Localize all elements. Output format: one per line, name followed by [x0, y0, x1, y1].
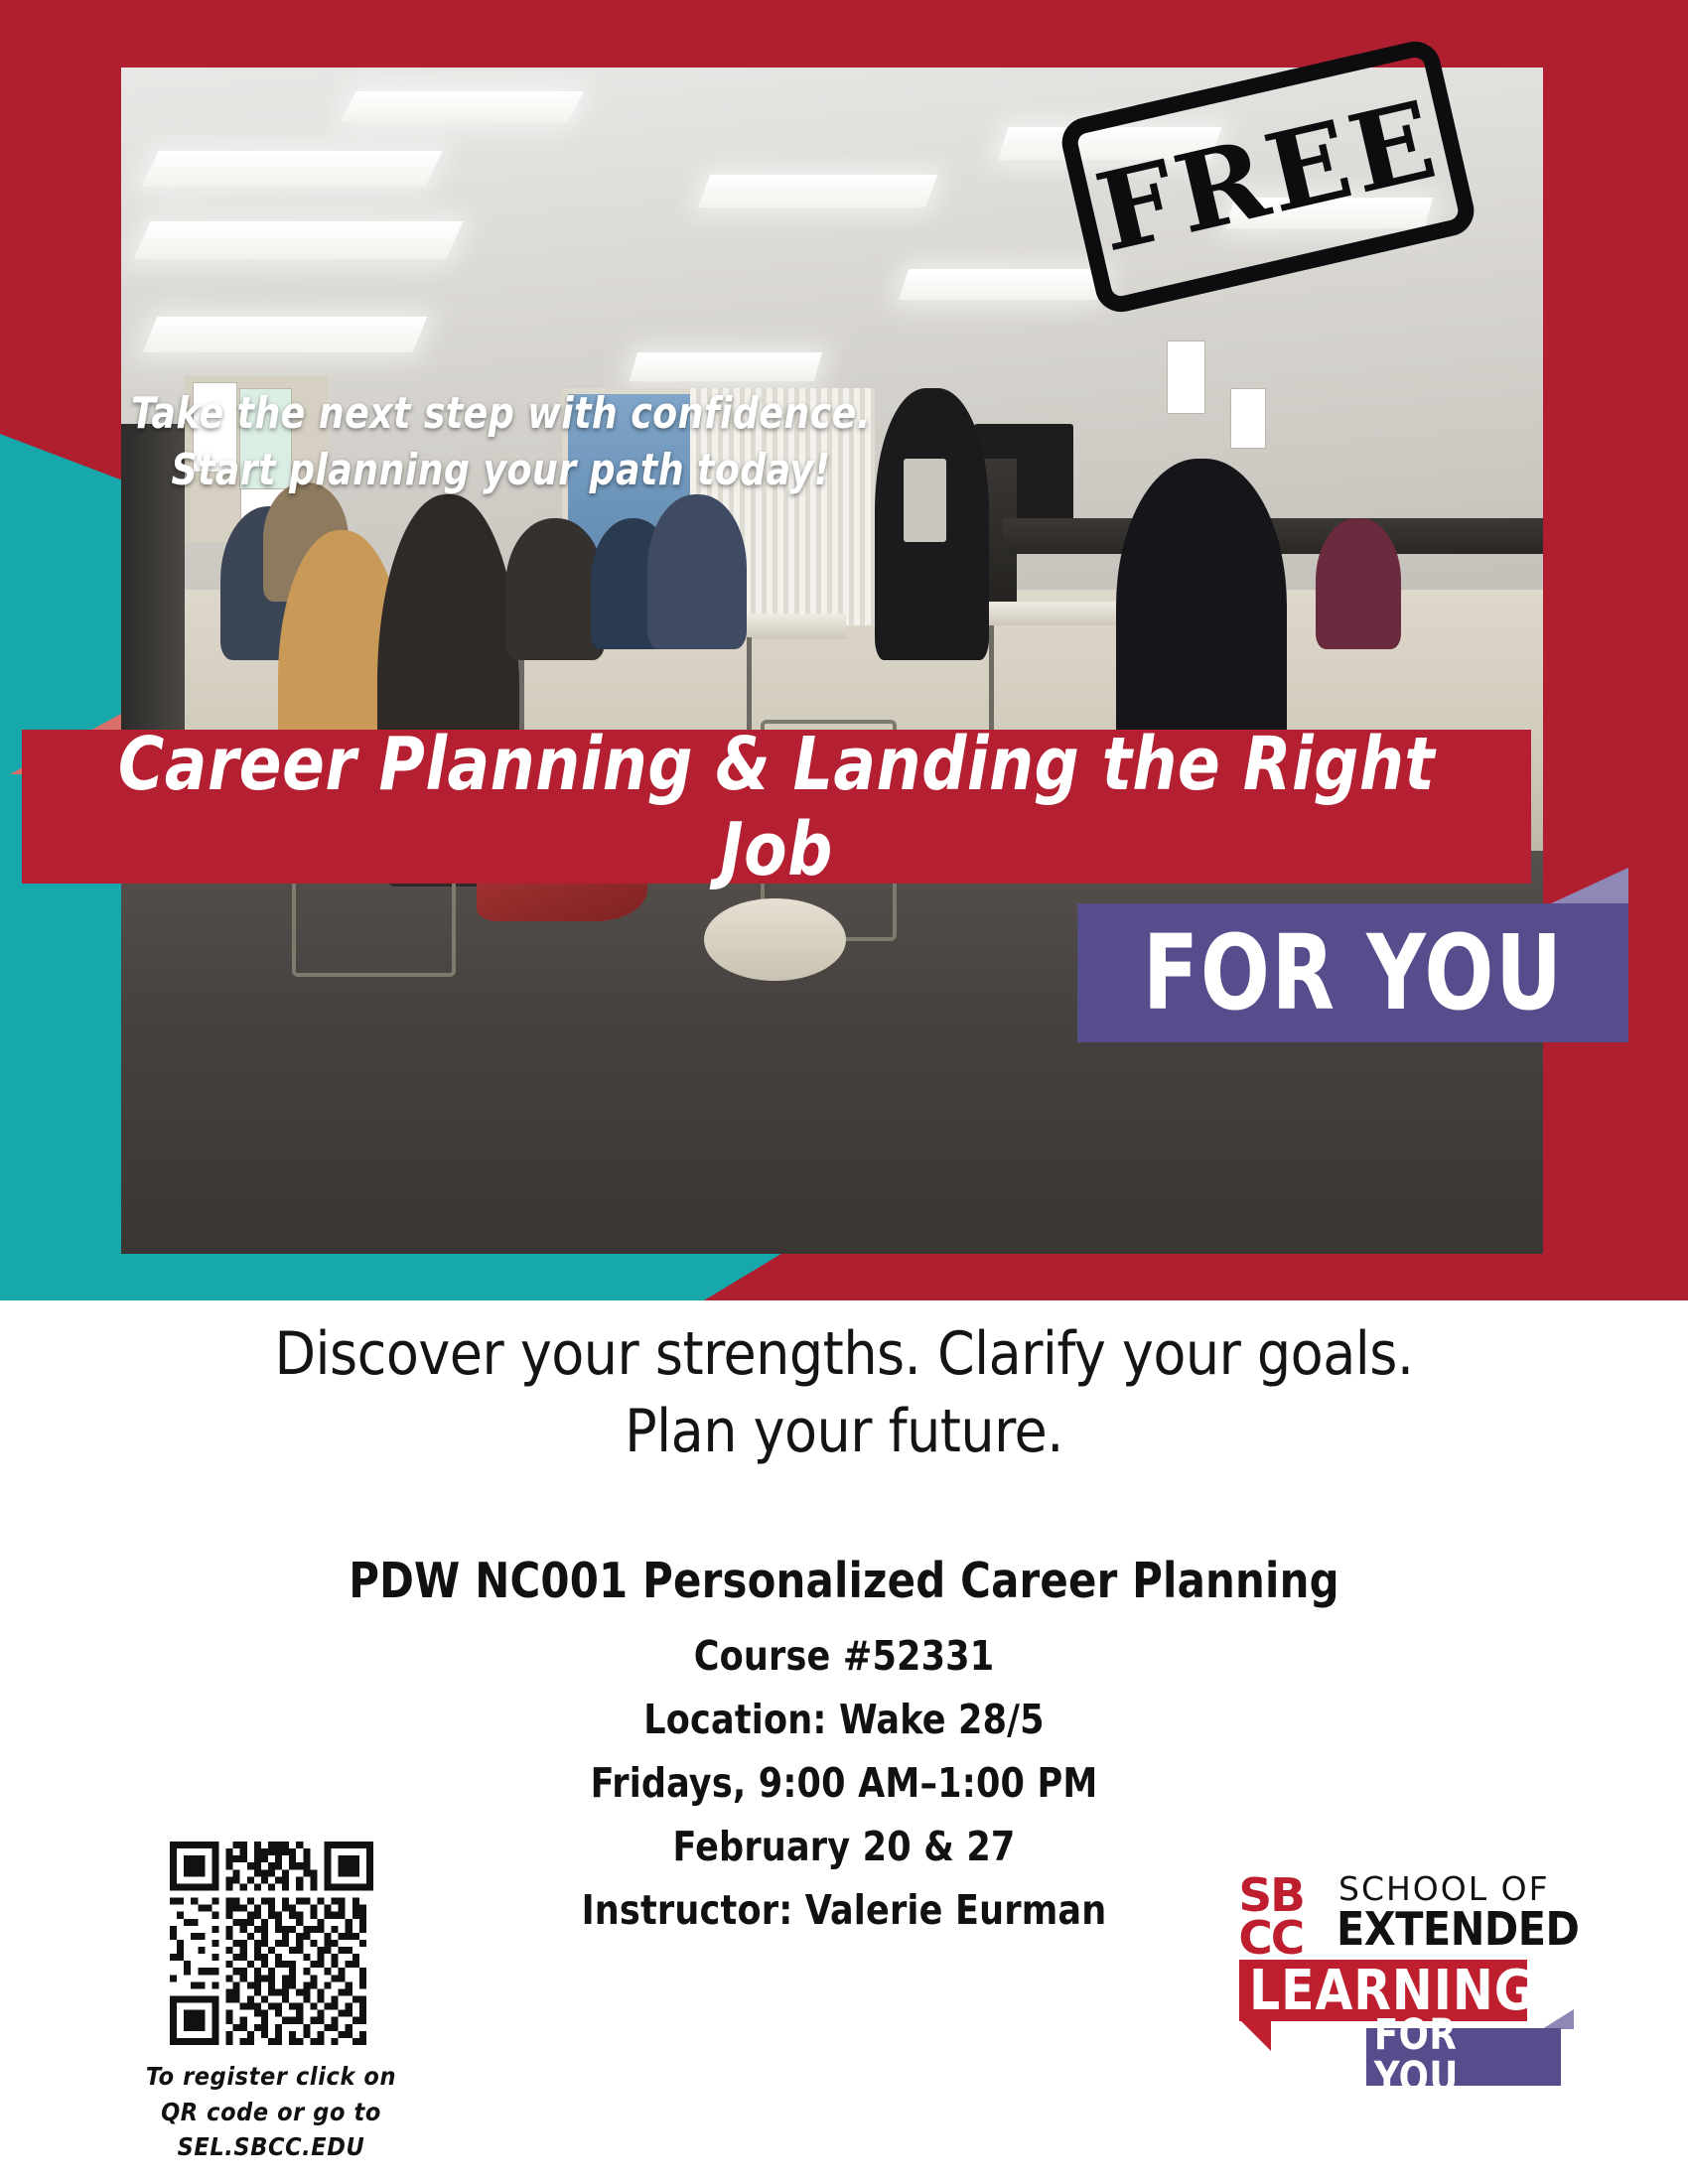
- ceiling-light: [141, 151, 443, 187]
- flyer-title: Career Planning & Landing the Right Job: [60, 722, 1493, 892]
- logo-for-you-bar: FOR YOU: [1366, 2028, 1561, 2086]
- sbcc-mark-line-2: CC: [1238, 1917, 1303, 1960]
- course-schedule: Fridays, 9:00 AM–1:00 PM: [43, 1752, 1646, 1816]
- subheadline: Discover your strengths. Clarify your go…: [0, 1315, 1688, 1470]
- sbcc-logo: SB CC SCHOOL OF EXTENDED LEARNING FOR YO…: [1239, 1866, 1607, 2115]
- logo-school-of: SCHOOL OF: [1338, 1872, 1550, 1905]
- hero-section: FREE Take the next step with confidence.…: [0, 0, 1688, 1300]
- logo-for-you-label: FOR YOU: [1374, 2014, 1553, 2100]
- subheadline-line-1: Discover your strengths. Clarify your go…: [274, 1319, 1413, 1389]
- photo-poster: [1167, 341, 1205, 414]
- ceiling-light: [698, 175, 937, 207]
- photo-object: [704, 898, 846, 982]
- ceiling-light: [629, 352, 821, 381]
- qr-caption-line-2: QR code or go to SEL.SBCC.EDU: [117, 2095, 425, 2165]
- for-you-fold-accent: [1547, 868, 1628, 905]
- qr-code-icon[interactable]: [170, 1842, 373, 2045]
- course-title: PDW NC001 Personalized Career Planning: [43, 1544, 1646, 1619]
- ceiling-light: [899, 269, 1108, 300]
- for-you-band: FOR YOU: [1077, 903, 1628, 1042]
- photo-person: [1316, 518, 1401, 648]
- for-you-label: FOR YOU: [1143, 921, 1564, 1024]
- subheadline-line-2: Plan your future.: [0, 1393, 1688, 1470]
- course-number: Course #52331: [43, 1625, 1646, 1689]
- title-band: Career Planning & Landing the Right Job: [22, 730, 1531, 884]
- flyer-page: FREE Take the next step with confidence.…: [0, 0, 1688, 2184]
- photo-person: [647, 494, 747, 648]
- ceiling-light: [342, 91, 584, 122]
- photo-person: [505, 518, 605, 660]
- photo-poster: [1230, 388, 1266, 450]
- qr-caption: To register click on QR code or go to SE…: [117, 2059, 425, 2165]
- logo-learning-tail: [1241, 2021, 1271, 2051]
- ceiling-light: [142, 317, 427, 352]
- logo-extended: EXTENDED: [1336, 1906, 1579, 1952]
- tagline-line-1: Take the next step with confidence.: [131, 388, 871, 439]
- qr-block[interactable]: To register click on QR code or go to SE…: [117, 1842, 425, 2165]
- tagline-line-2: Start planning your path today!: [131, 442, 1008, 498]
- ceiling-light: [134, 221, 464, 259]
- qr-caption-line-1: To register click on: [146, 2062, 396, 2091]
- sbcc-mark: SB CC: [1238, 1874, 1303, 1960]
- hero-tagline: Take the next step with confidence. Star…: [131, 385, 1008, 498]
- course-location: Location: Wake 28/5: [43, 1689, 1646, 1752]
- teal-bottom-bar: [0, 1246, 794, 1300]
